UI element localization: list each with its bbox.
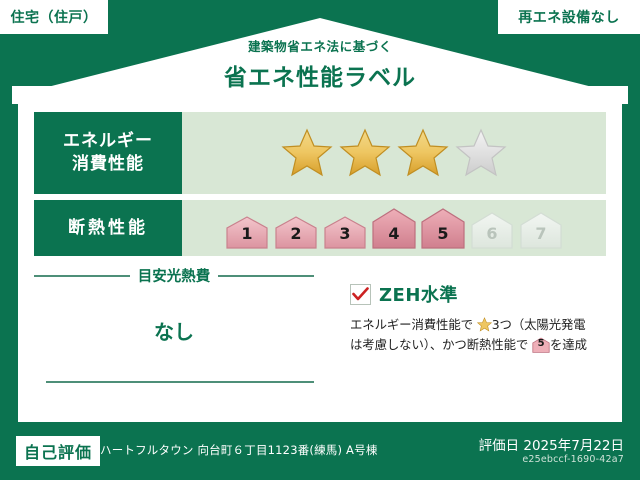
insulation-grade-2-label: 2 <box>273 224 319 243</box>
estimated-utility-cost-heading: 目安光熱費 <box>34 265 314 286</box>
evaluation-date: 評価日 2025年7月22日 <box>479 434 624 454</box>
title-subtitle: 建築物省エネ法に基づく <box>0 36 640 55</box>
cost-heading-text: 目安光熱費 <box>138 265 211 286</box>
zeh-description: エネルギー消費性能で 3つ（太陽光発電 は考慮しない）、かつ断熱性能で 5 を達… <box>350 315 618 356</box>
inline-grade-label: 5 <box>532 337 550 353</box>
label-footer: 自己評価 ハートフルタウン 向台町６丁目1123番(練馬) A号棟 評価日 20… <box>0 432 640 480</box>
star-empty-icon <box>455 128 507 178</box>
estimated-utility-cost-value: なし <box>34 316 314 345</box>
star-filled-icon <box>281 128 333 178</box>
insulation-performance-value: 1 2 3 <box>182 200 606 256</box>
zeh-desc-part1: エネルギー消費性能で <box>350 317 473 332</box>
tab-renewable-energy: 再エネ設備なし <box>498 0 640 34</box>
insulation-grade-3-label: 3 <box>322 224 368 243</box>
energy-performance-row: エネルギー 消費性能 <box>34 112 606 194</box>
insulation-performance-row: 断熱性能 1 <box>34 200 606 256</box>
insulation-grade-7-label: 7 <box>518 224 564 243</box>
zeh-heading: ZEH水準 <box>350 281 618 307</box>
tab-building-type: 住宅（住戸） <box>0 0 108 34</box>
self-evaluation-badge: 自己評価 <box>16 436 100 466</box>
insulation-grade-1-label: 1 <box>224 224 270 243</box>
heading-rule-right <box>218 275 314 277</box>
energy-performance-label-box: エネルギー 消費性能 <box>34 112 182 194</box>
energy-label-line1: エネルギー <box>63 130 153 153</box>
insulation-grade-5-label: 5 <box>420 224 466 243</box>
star-rating <box>281 128 507 178</box>
inline-star-icon <box>477 317 492 332</box>
cost-section-divider <box>46 381 314 383</box>
zeh-standard-block: ZEH水準 エネルギー消費性能で 3つ（太陽光発電 は考慮しない）、かつ断熱性能… <box>350 281 618 356</box>
insulation-grade-1: 1 <box>224 215 270 249</box>
inline-insulation-grade-icon: 5 <box>532 337 550 353</box>
zeh-checkbox[interactable] <box>350 284 371 305</box>
label-body-panel: エネルギー 消費性能 <box>18 100 622 422</box>
page-title: 建築物省エネ法に基づく 省エネ性能ラベル <box>0 36 640 92</box>
zeh-desc-part3: を達成 <box>550 337 587 352</box>
insulation-grade-4-label: 4 <box>371 224 417 243</box>
zeh-desc-part2: は考慮しない）、かつ断熱性能で <box>350 337 528 352</box>
insulation-grade-3: 3 <box>322 215 368 249</box>
lower-section: 目安光熱費 なし ZEH水準 エネルギー消費性能で <box>34 263 606 409</box>
insulation-grade-5: 5 <box>420 207 466 249</box>
star-filled-icon <box>397 128 449 178</box>
insulation-grade-2: 2 <box>273 215 319 249</box>
insulation-grade-6-label: 6 <box>469 224 515 243</box>
property-address: ハートフルタウン 向台町６丁目1123番(練馬) A号棟 <box>100 442 378 458</box>
energy-performance-value <box>182 112 606 194</box>
check-icon <box>352 287 369 301</box>
evaluation-id: e25ebccf-1690-42a7 <box>522 454 624 465</box>
energy-performance-label: 住宅（住戸） 再エネ設備なし 建築物省エネ法に基づく 省エネ性能ラベル エネルギ… <box>0 0 640 480</box>
zeh-desc-stars: 3つ（太陽光発電 <box>492 317 586 332</box>
insulation-grade-7: 7 <box>518 211 564 249</box>
insulation-label-text: 断熱性能 <box>68 217 148 240</box>
star-filled-icon <box>339 128 391 178</box>
heading-rule-left <box>34 275 130 277</box>
energy-label-line2: 消費性能 <box>72 153 144 176</box>
title-main: 省エネ性能ラベル <box>0 58 640 92</box>
insulation-grade-4: 4 <box>371 207 417 249</box>
insulation-performance-label-box: 断熱性能 <box>34 200 182 256</box>
insulation-grade-6: 6 <box>469 211 515 249</box>
zeh-title-text: ZEH水準 <box>379 281 458 307</box>
insulation-grade-scale: 1 2 3 <box>224 207 564 249</box>
